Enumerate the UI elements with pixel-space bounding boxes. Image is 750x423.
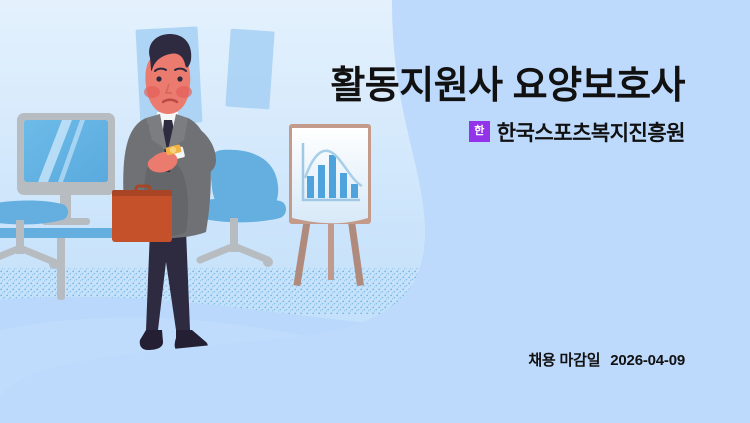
watch-face [170,147,176,153]
deadline-date: 2026-04-09 [610,352,685,369]
chart-bar [340,173,347,198]
deadline-label: 채용 마감일 [528,352,600,369]
cheek-right [176,86,192,98]
page-title: 활동지원사 요양보호사 [330,66,685,108]
chart-bar [329,155,336,198]
briefcase [112,186,172,242]
chart-bar [307,176,314,198]
office-illustration [0,0,460,423]
chair-right-wheel [263,257,273,267]
chair-left-wheel [49,259,59,269]
window-panel-small [225,29,274,110]
cheek-left [144,86,160,98]
eye-right [177,76,182,81]
chair-left-seat [0,200,68,224]
organization-row: 한 한국스포츠복지진흥원 [330,117,685,147]
headline-block: 활동지원사 요양보호사 한 한국스포츠복지진흥원 [330,66,685,147]
organization-name: 한국스포츠복지진흥원 [497,117,685,147]
eye-left [156,76,161,81]
job-posting-banner: 활동지원사 요양보호사 한 한국스포츠복지진흥원 채용 마감일 2026-04-… [0,0,750,423]
chart-bar [318,165,325,198]
easel-leg-center [328,216,334,280]
floor-near [0,318,460,423]
desk-leg [57,236,65,300]
chart-bar [351,184,358,198]
flipchart-easel [289,124,371,286]
organization-badge-icon: 한 [469,121,490,142]
deadline-info: 채용 마감일 2026-04-09 [528,349,685,370]
illustration-clip-group [0,0,460,423]
